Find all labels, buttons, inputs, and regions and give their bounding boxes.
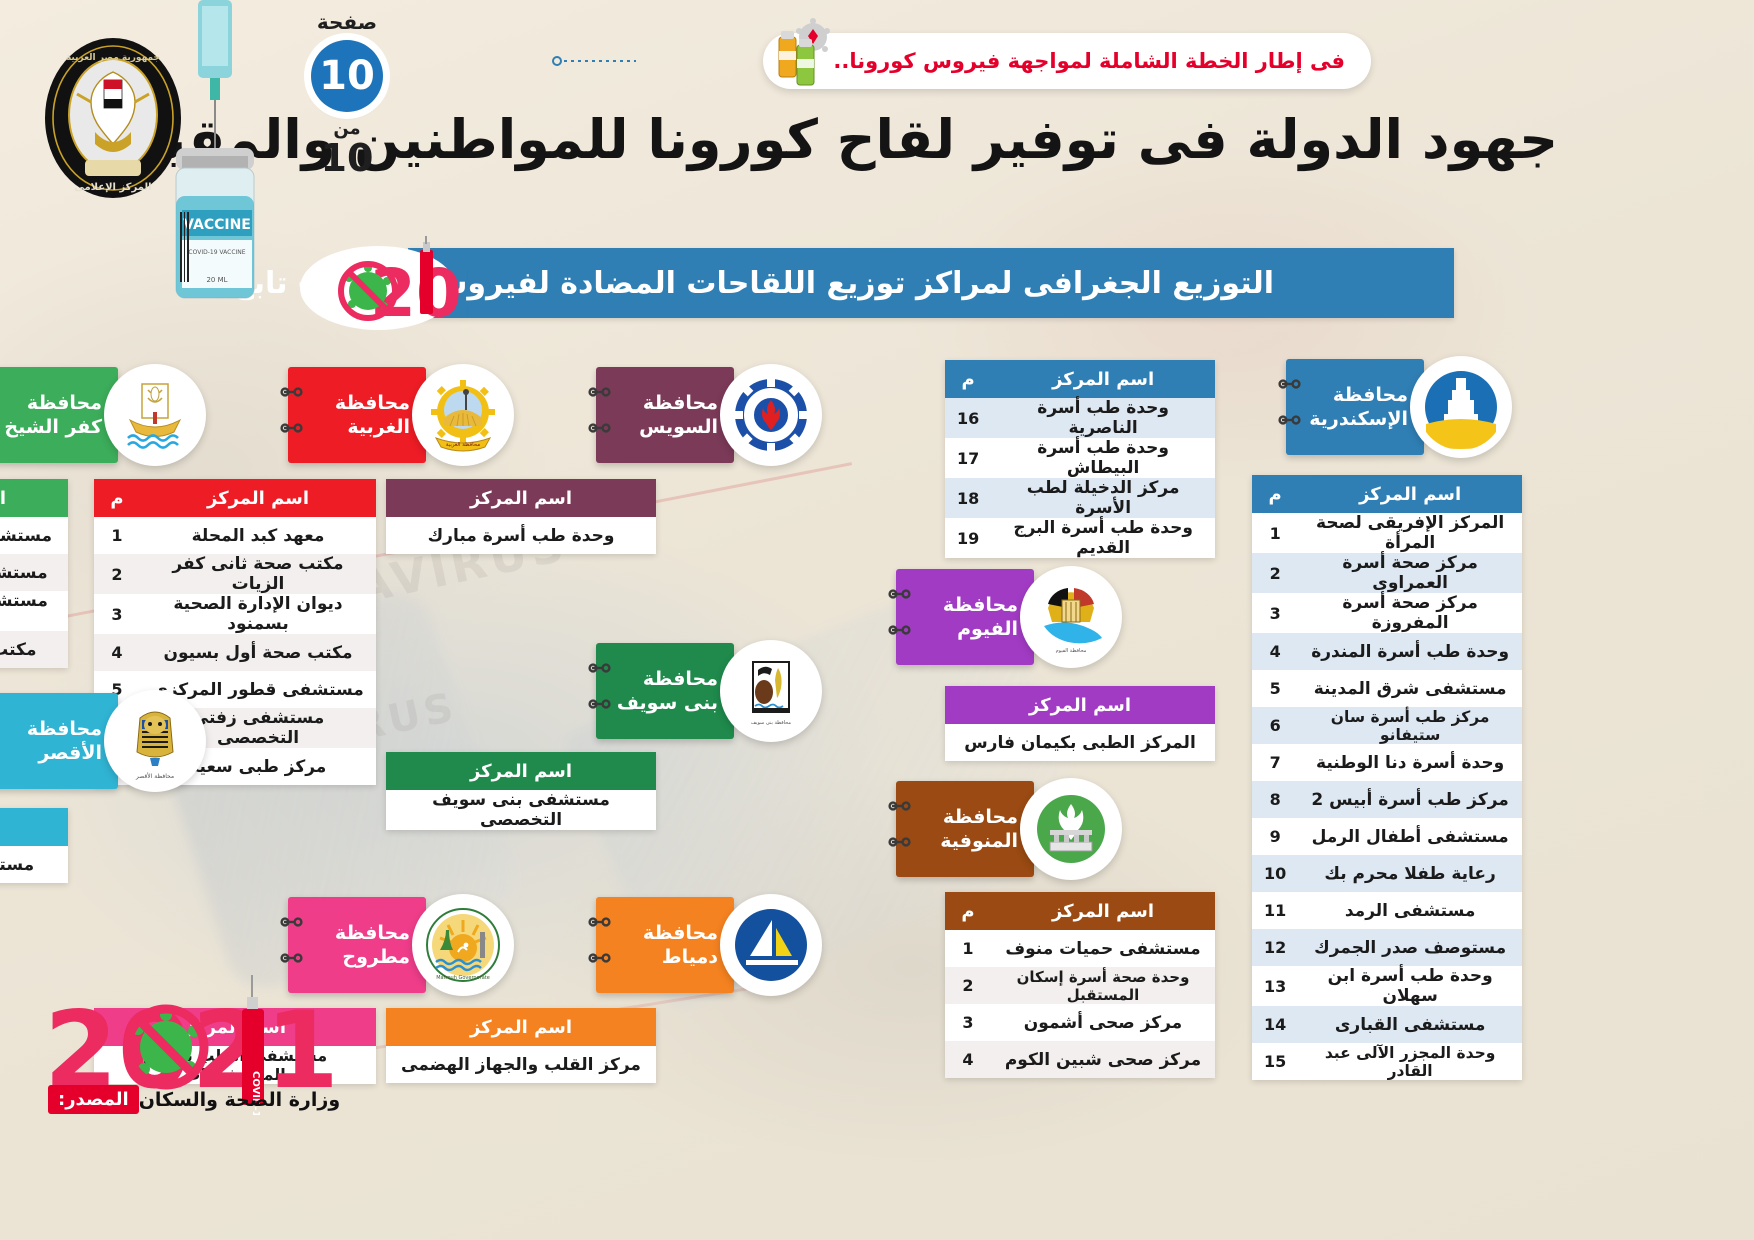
gharbia-emblem-icon: محافظة الغربية: [412, 364, 514, 466]
svg-text:محافظة الغربية: محافظة الغربية: [446, 442, 480, 448]
year-badge-2021-top: 2021: [298, 236, 468, 330]
governorate-name-line2: الإسكندرية: [1300, 407, 1408, 431]
center-name: مستشفى حميات منوف: [991, 930, 1215, 967]
governorate-name-line2: المنوفية: [910, 829, 1018, 853]
luxor-emblem-icon: محافظة الأقصر: [104, 690, 206, 792]
governorate-name-line2: السويس: [610, 415, 718, 439]
table-kafr-el-sheikh: اسم المركز م مستشفى قلين الجديدة1 مستشفى…: [0, 479, 68, 668]
table-row: معهد كبد المحلة1: [94, 517, 376, 554]
table-row: رعاية طفلا محرم بك10: [1252, 855, 1522, 892]
center-name: مركز الدخيلة لطب الأسرة: [991, 478, 1215, 518]
table-row: مستشفى الرمد11: [1252, 892, 1522, 929]
plan-ribbon: فى إطار الخطة الشاملة لمواجهة فيروس كورو…: [763, 33, 1371, 89]
damietta-emblem-icon: [720, 894, 822, 996]
governorate-name-line1: محافظة: [910, 593, 1018, 617]
table-row: مستشفى حميات الأقصر: [0, 846, 68, 883]
center-name: مستشفى بنى سويف التخصصى: [386, 790, 656, 830]
center-name: رعاية طفلا محرم بك: [1298, 855, 1522, 892]
table-row: مستشفى شرق المدينة5: [1252, 670, 1522, 707]
governorate-header-menoufia: محافظة المنوفية: [896, 778, 1122, 880]
governorate-name-line1: محافظة: [302, 921, 410, 945]
table-fayoum: اسم المركز المركز الطبى بكيمان فارس: [945, 686, 1215, 761]
page-counter: صفحة 10 من 10: [304, 10, 390, 177]
table-row: وحدة أسرة دنا الوطنية7: [1252, 744, 1522, 781]
beni-suef-emblem-icon: محافظة بنى سويف: [720, 640, 822, 742]
center-name: وحدة طب أسرة ابن سهلان: [1298, 966, 1522, 1006]
center-num: 2: [1252, 553, 1298, 593]
table-row: مكتب صحة ثانى كفر الزيات2: [94, 554, 376, 594]
table-row: مستوصف صدر الجمرك12: [1252, 929, 1522, 966]
center-name: مكتب صحة الحامول: [0, 631, 68, 668]
governorate-header-alexandria: محافظة الإسكندرية: [1286, 356, 1512, 458]
center-num: 10: [1252, 855, 1298, 892]
table-row: مستشفى قلين الجديدة1: [0, 517, 68, 554]
svg-text:محافظة بنى سويف: محافظة بنى سويف: [751, 720, 792, 726]
center-num: 18: [945, 478, 991, 518]
governorate-header-kafr-el-sheikh: محافظة كفر الشيخ: [0, 364, 206, 466]
governorate-name-line1: محافظة: [302, 391, 410, 415]
center-name: وحدة صحة أسرة إسكان المستقبل: [991, 967, 1215, 1004]
binder-rings-icon: [1278, 372, 1304, 436]
table-row: مركز طب أسرة سان ستيفانو6: [1252, 707, 1522, 744]
svg-text:جمهورية مصر العربية: جمهورية مصر العربية: [66, 53, 160, 63]
source-label: المصدر:: [48, 1085, 139, 1114]
svg-text:COVID-19 VACCINE: COVID-19 VACCINE: [188, 249, 245, 256]
center-num: 11: [1252, 892, 1298, 929]
table-row: مستشفى القبارى14: [1252, 1006, 1522, 1043]
governorate-name-line1: محافظة: [0, 391, 102, 415]
center-num: 14: [1252, 1006, 1298, 1043]
table-alexandria-continued: اسم المركز م وحدة طب أسرة الناصرية16 وحد…: [945, 360, 1215, 558]
menoufia-emblem-icon: [1020, 778, 1122, 880]
center-num: 1: [1252, 513, 1298, 553]
svg-text:محافظة الأقصر: محافظة الأقصر: [135, 772, 174, 780]
binder-rings-icon: [280, 380, 306, 444]
col-header-name: اسم المركز: [386, 479, 656, 517]
center-name: مكتب صحة أول بسيون: [140, 634, 376, 671]
center-num: 4: [94, 634, 140, 671]
center-name: وحدة طب أسرة الناصرية: [991, 398, 1215, 438]
center-name: مستشفى دسوق العام: [0, 554, 68, 591]
center-num: 3: [94, 594, 140, 634]
table-row: مركز القلب والجهاز الهضمى: [386, 1046, 656, 1083]
center-name: مركز صحى شبين الكوم: [991, 1041, 1215, 1078]
governorate-name-line2: الأقصر: [0, 741, 102, 765]
center-num: 16: [945, 398, 991, 438]
governorate-header-suez: محافظة السويس: [596, 364, 822, 466]
governorate-header-fayoum: محافظة الفيوم محافظة الفيوم: [896, 566, 1122, 668]
center-num: 6: [1252, 707, 1298, 744]
table-row: مركز طب أسرة أبيس 28: [1252, 781, 1522, 818]
government-emblem: جمهورية مصر العربية المركز الإعلامى: [33, 32, 193, 210]
svg-text:VACCINE: VACCINE: [183, 217, 251, 233]
center-name: وحدة طب أسرة المندرة: [1298, 633, 1522, 670]
governorate-name-line1: محافظة: [910, 805, 1018, 829]
table-row: وحدة طب أسرة البيطاش17: [945, 438, 1215, 478]
table-suez: اسم المركز وحدة طب أسرة مبارك: [386, 479, 656, 554]
col-header-name: اسم المركز: [991, 360, 1215, 398]
table-row: وحدة صحة أسرة إسكان المستقبل2: [945, 967, 1215, 1004]
center-name: مستوصف صدر الجمرك: [1298, 929, 1522, 966]
vaccine-bottles-icon: [769, 17, 835, 89]
col-header-name: اسم المركز: [386, 1008, 656, 1046]
binder-rings-icon: [888, 582, 914, 646]
center-name: مستشفى قلين الجديدة: [0, 517, 68, 554]
col-header-num: م: [1252, 475, 1298, 513]
center-num: 13: [1252, 966, 1298, 1006]
center-name: وحدة المجزر الآلى عبد القادر: [1298, 1043, 1522, 1080]
table-luxor: اسم المركز مستشفى حميات الأقصر: [0, 808, 68, 883]
governorate-header-damietta: محافظة دمياط: [596, 894, 822, 996]
fayoum-emblem-icon: محافظة الفيوم: [1020, 566, 1122, 668]
table-row: مركز الدخيلة لطب الأسرة18: [945, 478, 1215, 518]
table-alexandria: اسم المركز م المركز الإفريقى لصحة المرأة…: [1252, 475, 1522, 1080]
table-row: مستشفى دسوق العام2: [0, 554, 68, 591]
center-num: 1: [94, 517, 140, 554]
suez-emblem-icon: [720, 364, 822, 466]
center-name: المركز الإفريقى لصحة المرأة: [1298, 513, 1522, 553]
governorate-name-line1: محافظة: [1300, 383, 1408, 407]
governorate-header-beni-suef: محافظة بنى سويف محافظة بنى سويف: [596, 640, 822, 742]
kafr-el-sheikh-emblem-icon: [104, 364, 206, 466]
governorate-name-line2: الغربية: [302, 415, 410, 439]
center-num: 12: [1252, 929, 1298, 966]
center-num: 19: [945, 518, 991, 558]
table-menoufia: اسم المركز م مستشفى حميات منوف1 وحدة صحة…: [945, 892, 1215, 1078]
svg-text:Matrouh Governorate: Matrouh Governorate: [436, 975, 490, 981]
center-name: مركز القلب والجهاز الهضمى: [386, 1046, 656, 1083]
page-counter-total: 10: [304, 139, 390, 177]
svg-text:محافظة الفيوم: محافظة الفيوم: [1056, 648, 1087, 654]
svg-text:20 ML: 20 ML: [206, 276, 227, 284]
center-num: 9: [1252, 818, 1298, 855]
center-name: مستشفى سيدى غازى المركزى: [0, 591, 68, 631]
col-header-name: اسم المركز: [140, 479, 376, 517]
governorate-name-line1: محافظة: [0, 717, 102, 741]
table-row: مستشفى حميات منوف1: [945, 930, 1215, 967]
governorate-name-line2: مطروح: [302, 945, 410, 969]
svg-text:المركز الإعلامى: المركز الإعلامى: [74, 182, 151, 193]
dotted-connector-line: [552, 55, 636, 67]
col-header-name: اسم المركز: [386, 752, 656, 790]
table-row: مستشفى أطفال الرمل9: [1252, 818, 1522, 855]
center-name: مستشفى القبارى: [1298, 1006, 1522, 1043]
table-row: وحدة المجزر الآلى عبد القادر15: [1252, 1043, 1522, 1080]
center-name: مستشفى أطفال الرمل: [1298, 818, 1522, 855]
governorate-name-line2: بنى سويف: [610, 691, 718, 715]
center-name: مركز صحة أسرة المفروزة: [1298, 593, 1522, 633]
center-name: ديوان الإدارة الصحية بسمنود: [140, 594, 376, 634]
page-title: جهود الدولة فى توفير لقاح كورونا للمواطن…: [196, 108, 1558, 171]
matrouh-emblem-icon: Matrouh Governorate: [412, 894, 514, 996]
col-header-num: م: [945, 892, 991, 930]
table-row: وحدة طب أسرة البرج القديم19: [945, 518, 1215, 558]
alexandria-emblem-icon: [1410, 356, 1512, 458]
governorate-header-luxor: محافظة الأقصر محافظة الأقصر: [0, 690, 206, 792]
center-num: 4: [945, 1041, 991, 1078]
center-name: مركز طب أسرة سان ستيفانو: [1298, 707, 1522, 744]
table-row: مركز صحة أسرة المفروزة3: [1252, 593, 1522, 633]
binder-rings-icon: [588, 910, 614, 974]
center-num: 2: [94, 554, 140, 594]
table-damietta: اسم المركز مركز القلب والجهاز الهضمى: [386, 1008, 656, 1083]
center-num: 5: [1252, 670, 1298, 707]
source-value: وزارة الصحة والسكان: [139, 1089, 340, 1111]
table-row: مركز صحى أشمون3: [945, 1004, 1215, 1041]
col-header-name: اسم المركز: [0, 808, 68, 846]
governorate-header-gharbia: محافظة الغربية محافظة الغربية: [288, 364, 514, 466]
governorate-name-line2: الفيوم: [910, 617, 1018, 641]
section-banner: التوزيع الجغرافى لمراكز توزيع اللقاحات ا…: [408, 248, 1454, 318]
col-header-num: م: [94, 479, 140, 517]
page-counter-current: 10: [311, 40, 383, 112]
table-row: مركز صحة أسرة العمراوى2: [1252, 553, 1522, 593]
center-num: 15: [1252, 1043, 1298, 1080]
center-num: 3: [945, 1004, 991, 1041]
center-name: مستشفى حميات الأقصر: [0, 846, 68, 883]
page-counter-label: صفحة: [304, 10, 390, 34]
table-row: ديوان الإدارة الصحية بسمنود3: [94, 594, 376, 634]
governorate-name-line1: محافظة: [610, 921, 718, 945]
col-header-num: م: [945, 360, 991, 398]
table-row: وحدة طب أسرة ابن سهلان13: [1252, 966, 1522, 1006]
table-beni-suef: اسم المركز مستشفى بنى سويف التخصصى: [386, 752, 656, 830]
table-row: مكتب صحة أول بسيون4: [94, 634, 376, 671]
table-row: وحدة طب أسرة المندرة4: [1252, 633, 1522, 670]
center-name: مستشفى الرمد: [1298, 892, 1522, 929]
governorate-name-line2: دمياط: [610, 945, 718, 969]
plan-ribbon-text: فى إطار الخطة الشاملة لمواجهة فيروس كورو…: [833, 49, 1345, 73]
col-header-name: اسم المركز: [1298, 475, 1522, 513]
binder-rings-icon: [888, 794, 914, 858]
binder-rings-icon: [588, 380, 614, 444]
center-name: وحدة أسرة دنا الوطنية: [1298, 744, 1522, 781]
governorate-name-line2: كفر الشيخ: [0, 415, 102, 439]
col-header-name: اسم المركز: [945, 686, 1215, 724]
table-row: المركز الإفريقى لصحة المرأة1: [1252, 513, 1522, 553]
center-name: وحدة طب أسرة البرج القديم: [991, 518, 1215, 558]
governorate-name-line1: محافظة: [610, 667, 718, 691]
center-num: 3: [1252, 593, 1298, 633]
table-row: وحدة طب أسرة الناصرية16: [945, 398, 1215, 438]
center-num: 4: [1252, 633, 1298, 670]
col-header-name: اسم المركز: [991, 892, 1215, 930]
binder-rings-icon: [588, 656, 614, 720]
center-num: 1: [945, 930, 991, 967]
center-name: مركز صحى أشمون: [991, 1004, 1215, 1041]
center-name: مستشفى شرق المدينة: [1298, 670, 1522, 707]
center-name: وحدة طب أسرة البيطاش: [991, 438, 1215, 478]
center-num: 7: [1252, 744, 1298, 781]
center-num: 2: [945, 967, 991, 1004]
center-name: معهد كبد المحلة: [140, 517, 376, 554]
table-row: مركز صحى شبين الكوم4: [945, 1041, 1215, 1078]
governorate-name-line1: محافظة: [610, 391, 718, 415]
table-row: مكتب صحة الحامول4: [0, 631, 68, 668]
center-name: المركز الطبى بكيمان فارس: [945, 724, 1215, 761]
binder-rings-icon: [280, 910, 306, 974]
center-num: 8: [1252, 781, 1298, 818]
table-row: المركز الطبى بكيمان فارس: [945, 724, 1215, 761]
table-row: مستشفى سيدى غازى المركزى3: [0, 591, 68, 631]
center-name: مركز صحة أسرة العمراوى: [1298, 553, 1522, 593]
source-note: وزارة الصحة والسكان المصدر:: [48, 1085, 348, 1114]
center-name: وحدة طب أسرة مبارك: [386, 517, 656, 554]
table-row: وحدة طب أسرة مبارك: [386, 517, 656, 554]
center-name: مركز طب أسرة أبيس 2: [1298, 781, 1522, 818]
center-num: 17: [945, 438, 991, 478]
col-header-name: اسم المركز: [0, 479, 68, 517]
table-row: مستشفى بنى سويف التخصصى: [386, 790, 656, 830]
center-name: مكتب صحة ثانى كفر الزيات: [140, 554, 376, 594]
